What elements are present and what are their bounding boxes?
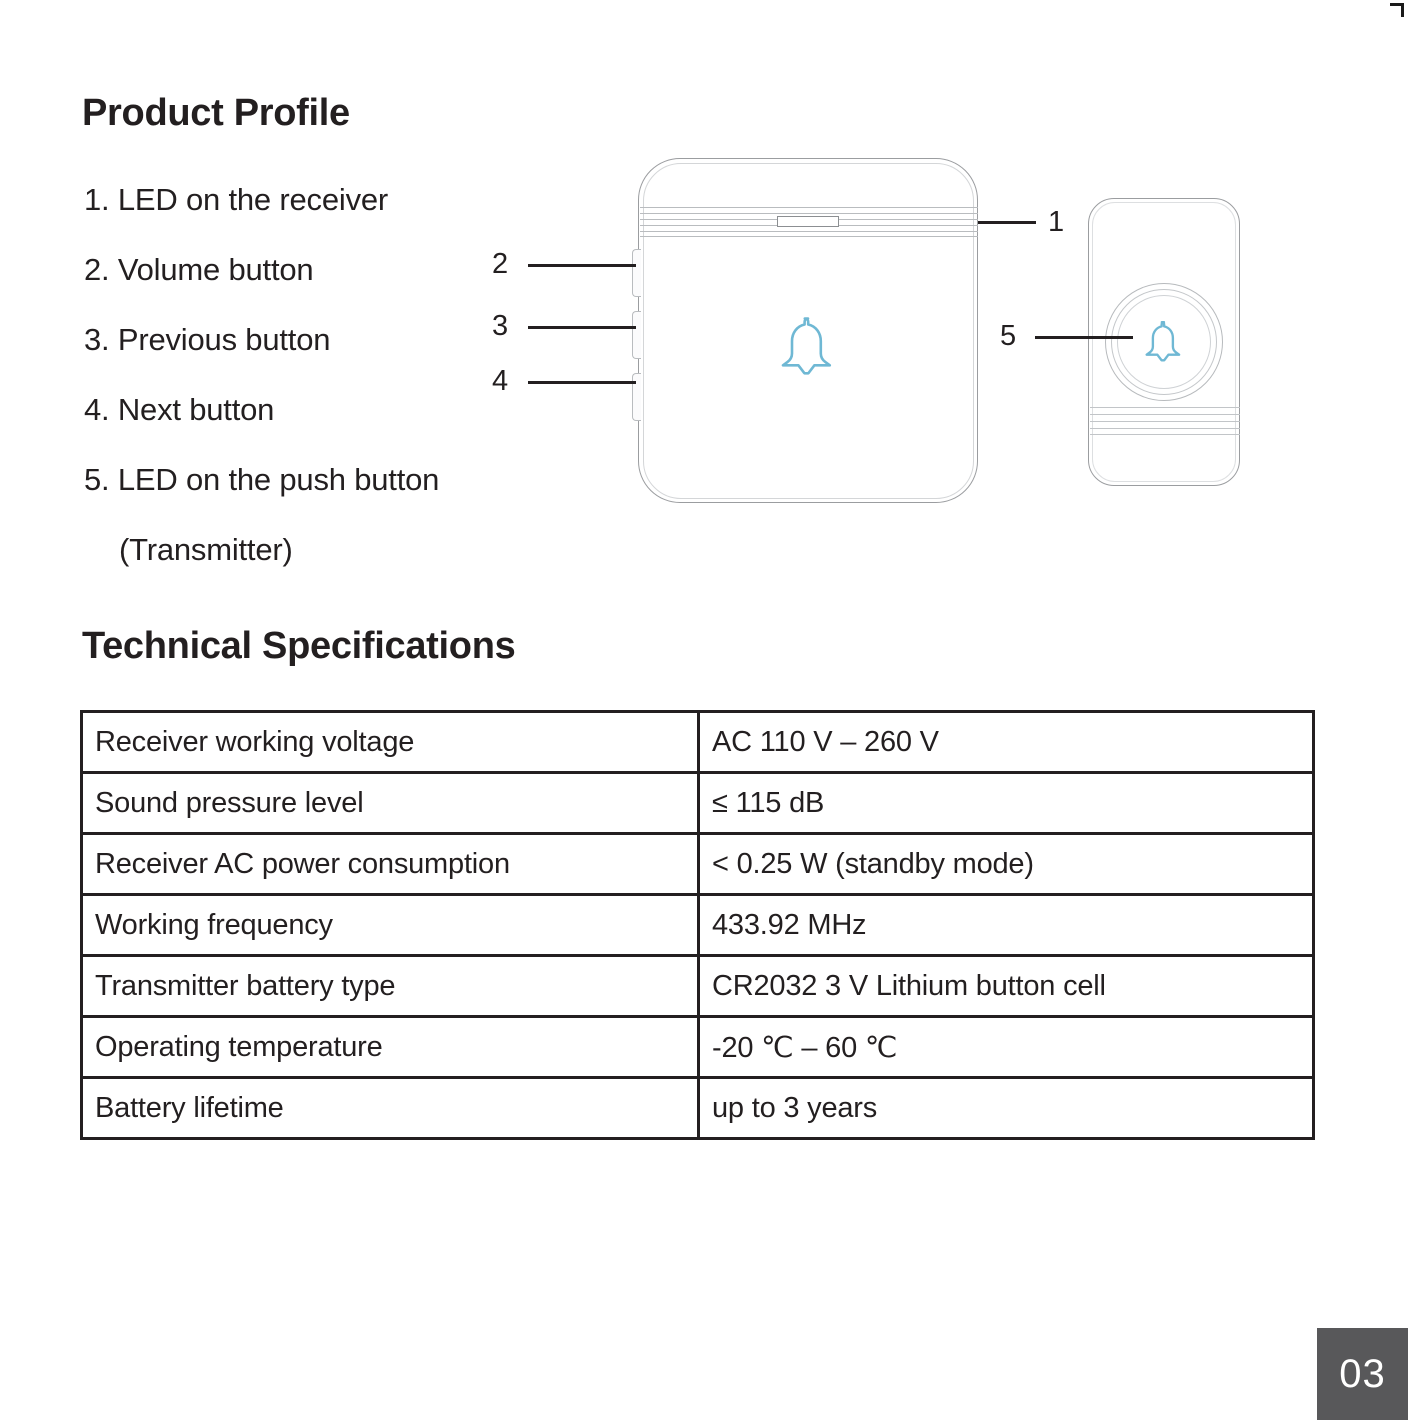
callout-leader-2 [528, 264, 636, 267]
spec-label: Receiver AC power consumption [82, 834, 699, 895]
spec-value: AC 110 V – 260 V [699, 712, 1314, 773]
product-profile-heading: Product Profile [82, 92, 350, 135]
previous-button[interactable] [632, 311, 641, 359]
table-row: Transmitter battery type CR2032 3 V Lith… [82, 956, 1314, 1017]
callout-number-3: 3 [492, 312, 508, 341]
spec-label: Receiver working voltage [82, 712, 699, 773]
spec-value: < 0.25 W (standby mode) [699, 834, 1314, 895]
table-row: Receiver working voltage AC 110 V – 260 … [82, 712, 1314, 773]
crop-mark-top-right [1390, 3, 1404, 17]
transmitter-grille [1090, 407, 1240, 435]
bell-icon [1139, 317, 1189, 367]
table-row: Working frequency 433.92 MHz [82, 895, 1314, 956]
spec-label: Operating temperature [82, 1017, 699, 1078]
table-row: Receiver AC power consumption < 0.25 W (… [82, 834, 1314, 895]
callout-leader-4 [528, 381, 636, 384]
volume-button[interactable] [632, 249, 641, 297]
callout-number-2: 2 [492, 250, 508, 279]
table-row: Battery lifetime up to 3 years [82, 1078, 1314, 1139]
page-number-badge: 03 [1317, 1328, 1408, 1420]
table-row: Operating temperature -20 ℃ – 60 ℃ [82, 1017, 1314, 1078]
spec-value: -20 ℃ – 60 ℃ [699, 1017, 1314, 1078]
bell-icon [772, 311, 844, 383]
spec-label: Transmitter battery type [82, 956, 699, 1017]
product-illustration: 1 2 3 4 5 [470, 140, 1290, 540]
callout-leader-1 [978, 221, 1036, 224]
document-page: Product Profile 1. LED on the receiver 2… [0, 0, 1408, 1420]
callout-number-4: 4 [492, 367, 508, 396]
spec-label: Sound pressure level [82, 773, 699, 834]
spec-label: Battery lifetime [82, 1078, 699, 1139]
spec-value: 433.92 MHz [699, 895, 1314, 956]
technical-specifications-heading: Technical Specifications [82, 625, 515, 668]
callout-number-5: 5 [1000, 322, 1016, 351]
callout-leader-3 [528, 326, 636, 329]
receiver-led-indicator [777, 216, 839, 227]
spec-value: CR2032 3 V Lithium button cell [699, 956, 1314, 1017]
spec-value: ≤ 115 dB [699, 773, 1314, 834]
receiver-speaker-grille [640, 207, 978, 237]
table-row: Sound pressure level ≤ 115 dB [82, 773, 1314, 834]
callout-leader-5 [1035, 336, 1133, 339]
receiver-unit-diagram [638, 158, 978, 503]
technical-specifications-table: Receiver working voltage AC 110 V – 260 … [80, 710, 1315, 1140]
callout-number-1: 1 [1048, 208, 1064, 237]
transmitter-unit-diagram [1088, 198, 1240, 486]
spec-value: up to 3 years [699, 1078, 1314, 1139]
spec-label: Working frequency [82, 895, 699, 956]
